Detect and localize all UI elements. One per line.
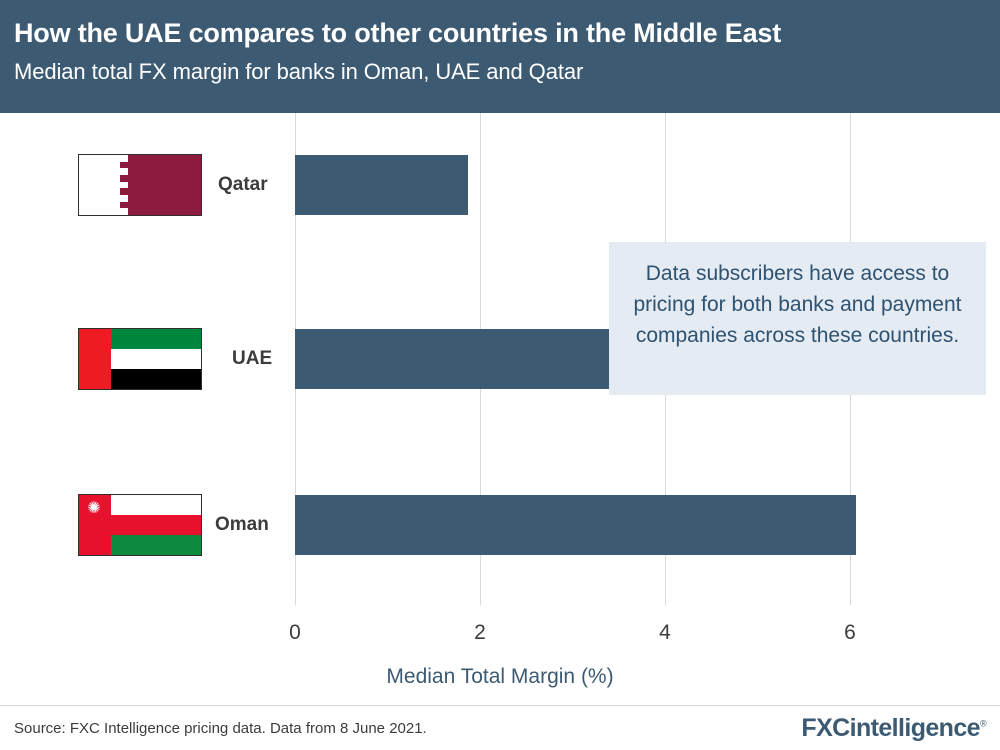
xtick-0: 0 — [289, 621, 301, 645]
callout-text: Data subscribers have access to pricing … — [633, 262, 961, 347]
source-note: Source: FXC Intelligence pricing data. D… — [14, 720, 427, 737]
oman-flag: ✺ — [78, 494, 202, 556]
uae-flag — [78, 328, 202, 390]
xtick-2: 2 — [474, 621, 486, 645]
callout-box: Data subscribers have access to pricing … — [609, 242, 986, 395]
oman-emblem-icon: ✺ — [86, 501, 102, 517]
category-label-oman: Oman — [215, 514, 269, 536]
page-title: How the UAE compares to other countries … — [14, 18, 781, 49]
fxc-intelligence-logo: FXCintelligence® — [801, 714, 986, 743]
footer-bar: Source: FXC Intelligence pricing data. D… — [0, 705, 1000, 750]
chart-canvas: Qatar UAE Oman ✺ 0 2 4 6 Med — [0, 113, 1000, 705]
page-subtitle: Median total FX margin for banks in Oman… — [14, 59, 583, 85]
xtick-4: 4 — [659, 621, 671, 645]
bar-oman[interactable] — [295, 495, 856, 555]
category-label-uae: UAE — [232, 348, 272, 370]
category-label-qatar: Qatar — [218, 174, 268, 196]
qatar-flag — [78, 154, 202, 216]
bar-qatar[interactable] — [295, 155, 468, 215]
x-axis-label: Median Total Margin (%) — [0, 665, 1000, 689]
logo-trademark: ® — [980, 719, 986, 729]
header-banner: How the UAE compares to other countries … — [0, 0, 1000, 113]
logo-text-intelligence: intelligence — [850, 714, 980, 742]
xtick-6: 6 — [844, 621, 856, 645]
logo-text-fxc: FXC — [801, 714, 849, 742]
